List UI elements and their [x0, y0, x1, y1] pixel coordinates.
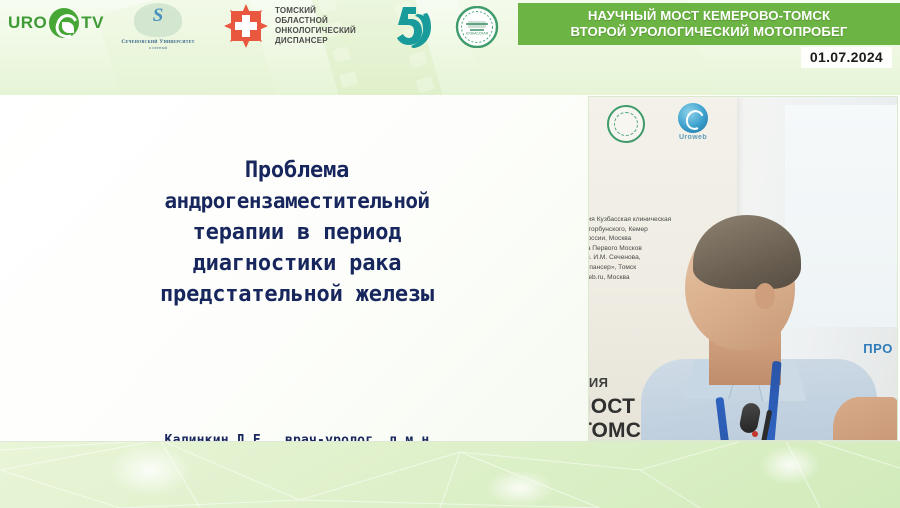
title-line-2: андрогензаместительной [28, 186, 566, 217]
page-header: URO TV S Сеченовский Университет Я ПЕРВЫ… [0, 0, 900, 95]
tomsk-line-1: ТОМСКИЙ [275, 6, 356, 16]
svg-text:КУЗБАССКАЯ: КУЗБАССКАЯ [466, 32, 489, 36]
event-banner: НАУЧНЫЙ МОСТ КЕМЕРОВО-ТОМСК ВТОРОЙ УРОЛО… [518, 3, 900, 45]
event-date-badge: 01.07.2024 [801, 47, 892, 68]
slide-title: Проблема андрогензаместительной терапии … [28, 155, 566, 310]
banner-line-2: ВТОРОЙ УРОЛОГИЧЕСКИЙ МОТОПРОБЕГ [571, 24, 848, 40]
uro-tv-leaf-icon [49, 8, 79, 38]
title-line-3: терапии в период [28, 217, 566, 248]
logo-kuzbass-seal[interactable]: КУЗБАССКАЯ [455, 6, 499, 48]
uroweb-label: Uroweb [667, 134, 719, 141]
tomsk-line-2: ОБЛАСТНОЙ [275, 16, 356, 26]
sechenov-tree-icon: S [134, 3, 182, 37]
uro-tv-text-right: TV [81, 13, 104, 33]
slide-content-area: Проблема андрогензаместительной терапии … [0, 95, 588, 442]
backdrop-seal-icon [607, 105, 645, 143]
backdrop-uroweb-logo: Uroweb [667, 103, 719, 141]
sechenov-university-title: Сеченовский Университет [112, 39, 204, 45]
tomsk-line-3: ОНКОЛОГИЧЕСКИЙ [275, 26, 356, 36]
video-projection-screen [785, 105, 898, 327]
tomsk-dispensary-name: ТОМСКИЙ ОБЛАСТНОЙ ОНКОЛОГИЧЕСКИЙ ДИСПАНС… [275, 6, 356, 47]
sechenov-university-subtitle: Я ПЕРВЫЙ [112, 46, 204, 50]
title-line-1: Проблема [28, 155, 566, 186]
tomsk-star-cross-icon [224, 4, 268, 48]
logo-tomsk-oncology-dispensary[interactable]: ТОМСКИЙ ОБЛАСТНОЙ ОНКОЛОГИЧЕСКИЙ ДИСПАНС… [224, 4, 356, 48]
microphone-indicator [752, 431, 758, 437]
speaker-arm [833, 397, 898, 441]
speaker-video-panel[interactable]: Uroweb анения Кузбасская клиническая . П… [588, 96, 898, 441]
speaker-ear [755, 283, 775, 309]
title-line-5: предстательной железы [28, 279, 566, 310]
tomsk-line-4: ДИСПАНСЕР [275, 36, 356, 46]
backdrop-title-2: МОСТ [588, 395, 635, 419]
logo-uro-tv[interactable]: URO TV [8, 8, 104, 38]
backdrop-title-1: ЦИЯ [588, 375, 608, 390]
uroweb-globe-icon [678, 103, 708, 133]
logo-sechenov-university[interactable]: S Сеченовский Университет Я ПЕРВЫЙ [112, 3, 204, 50]
sechenov-s-glyph: S [134, 5, 182, 27]
backdrop-title-3: ТОМС [588, 419, 641, 441]
banner-line-1: НАУЧНЫЙ МОСТ КЕМЕРОВО-ТОМСК [588, 8, 830, 24]
title-line-4: диагностики рака [28, 248, 566, 279]
backdrop-right-text: ПРО [863, 341, 893, 356]
logo-fifty-anniversary[interactable] [383, 4, 431, 48]
uro-tv-text-left: URO [8, 13, 47, 33]
slide-author-line: Калинкин Д.Е., врач-уролог, д.м.н [28, 433, 566, 442]
